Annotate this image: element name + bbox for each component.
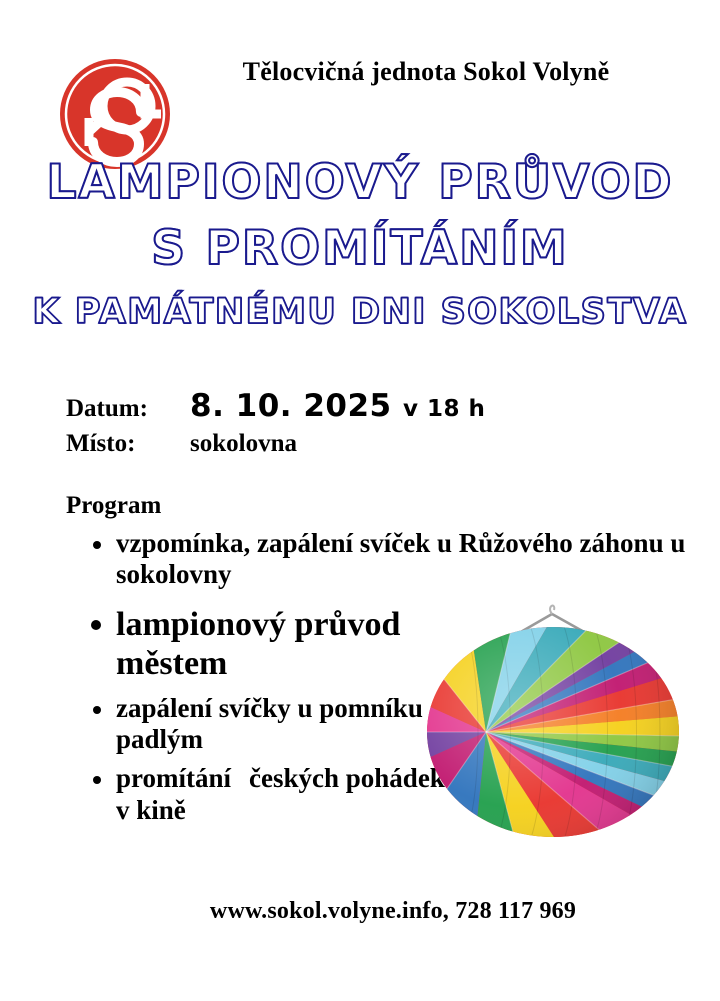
detail-value-date: 8. 10. 2025 v 18 h <box>190 388 485 424</box>
detail-value-place: sokolovna <box>190 430 297 458</box>
program-item-line-1: promítání <box>116 763 231 793</box>
detail-row-place: Místo: sokolovna <box>66 430 626 458</box>
program-item-line-1: zapálení svíčky <box>116 693 291 723</box>
headline-line-2: S PROMÍTÁNÍM <box>0 224 720 274</box>
contact-footer: www.sokol.volyne.info, 728 117 969 <box>0 898 720 925</box>
program-item: vzpomínka, zapálení svíček u Růžového zá… <box>86 528 696 591</box>
detail-label-date: Datum: <box>66 395 190 423</box>
detail-row-date: Datum: 8. 10. 2025 v 18 h <box>66 388 626 424</box>
headline-line-3: K PAMÁTNÉMU DNI SOKOLSTVA <box>0 294 720 331</box>
program-item-line-1b: českých <box>249 763 339 793</box>
program-item: lampionový průvod městem <box>86 605 446 683</box>
bullet-icon <box>93 541 101 549</box>
event-details: Datum: 8. 10. 2025 v 18 h Místo: sokolov… <box>66 388 626 464</box>
bullet-icon <box>91 620 101 630</box>
program-item-line-1: lampionový <box>116 606 286 643</box>
program-item-line-1: vzpomínka, zapálení svíček u Růžového <box>116 528 573 558</box>
headline-block: LAMPIONOVÝ PRŮVOD S PROMÍTÁNÍM K PAMÁTNÉ… <box>0 158 720 331</box>
program-item: zapálení svíčky u pomníku padlým <box>86 693 446 756</box>
rainbow-lantern-illustration <box>424 600 682 840</box>
program-item: promítáníčeských pohádek v kině <box>86 763 446 826</box>
headline-line-1: LAMPIONOVÝ PRŮVOD <box>0 158 720 208</box>
poster-canvas: Tělocvičná jednota Sokol Volyně LAMPIONO… <box>0 0 720 1001</box>
date-time-suffix: v 18 h <box>403 396 485 422</box>
bullet-icon <box>93 776 101 784</box>
program-heading: Program <box>66 492 161 520</box>
date-value: 8. 10. 2025 <box>190 388 392 424</box>
bullet-icon <box>93 706 101 714</box>
lantern-body <box>424 600 682 840</box>
detail-label-place: Místo: <box>66 430 190 458</box>
organization-title: Tělocvičná jednota Sokol Volyně <box>186 57 666 87</box>
